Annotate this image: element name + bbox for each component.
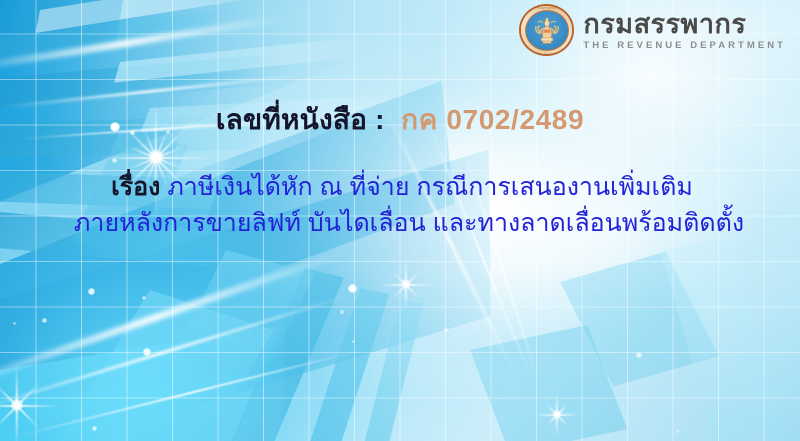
document-number-line: เลขที่หนังสือ : กค 0702/2489 — [0, 98, 800, 142]
subject-label: เรื่อง — [111, 173, 160, 201]
revenue-department-logo: กรมสรรพากร • • • — [519, 4, 786, 56]
seal-deity-figure-icon — [534, 16, 560, 46]
subject-line-2: ภายหลังการขายลิฟท์ บันไดเลื่อน และทางลาด… — [0, 206, 800, 242]
document-number-value: กค 0702/2489 — [401, 104, 584, 135]
logo-wordmark: กรมสรรพากร THE REVENUE DEPARTMENT — [583, 10, 786, 51]
subject-text-line-1: ภาษีเงินได้หัก ณ ที่จ่าย กรณีการเสนองานเ… — [167, 173, 692, 201]
banner-canvas: กรมสรรพากร • • • — [0, 0, 800, 441]
bokeh-dot — [676, 430, 679, 433]
revenue-department-seal-icon: กรมสรรพากร • • • — [519, 4, 574, 56]
logo-thai-name: กรมสรรพากร — [583, 10, 786, 38]
document-number-label: เลขที่หนังสือ : — [216, 104, 385, 135]
logo-english-name: THE REVENUE DEPARTMENT — [583, 41, 786, 51]
seal-bottom-text: • • • — [544, 51, 550, 55]
subject-line-1: เรื่อง ภาษีเงินได้หัก ณ ที่จ่าย กรณีการเ… — [0, 170, 800, 206]
subject-text-line-2: ภายหลังการขายลิฟท์ บันไดเลื่อน และทางลาด… — [74, 209, 744, 237]
document-subject-block: เรื่อง ภาษีเงินได้หัก ณ ที่จ่าย กรณีการเ… — [0, 170, 800, 241]
